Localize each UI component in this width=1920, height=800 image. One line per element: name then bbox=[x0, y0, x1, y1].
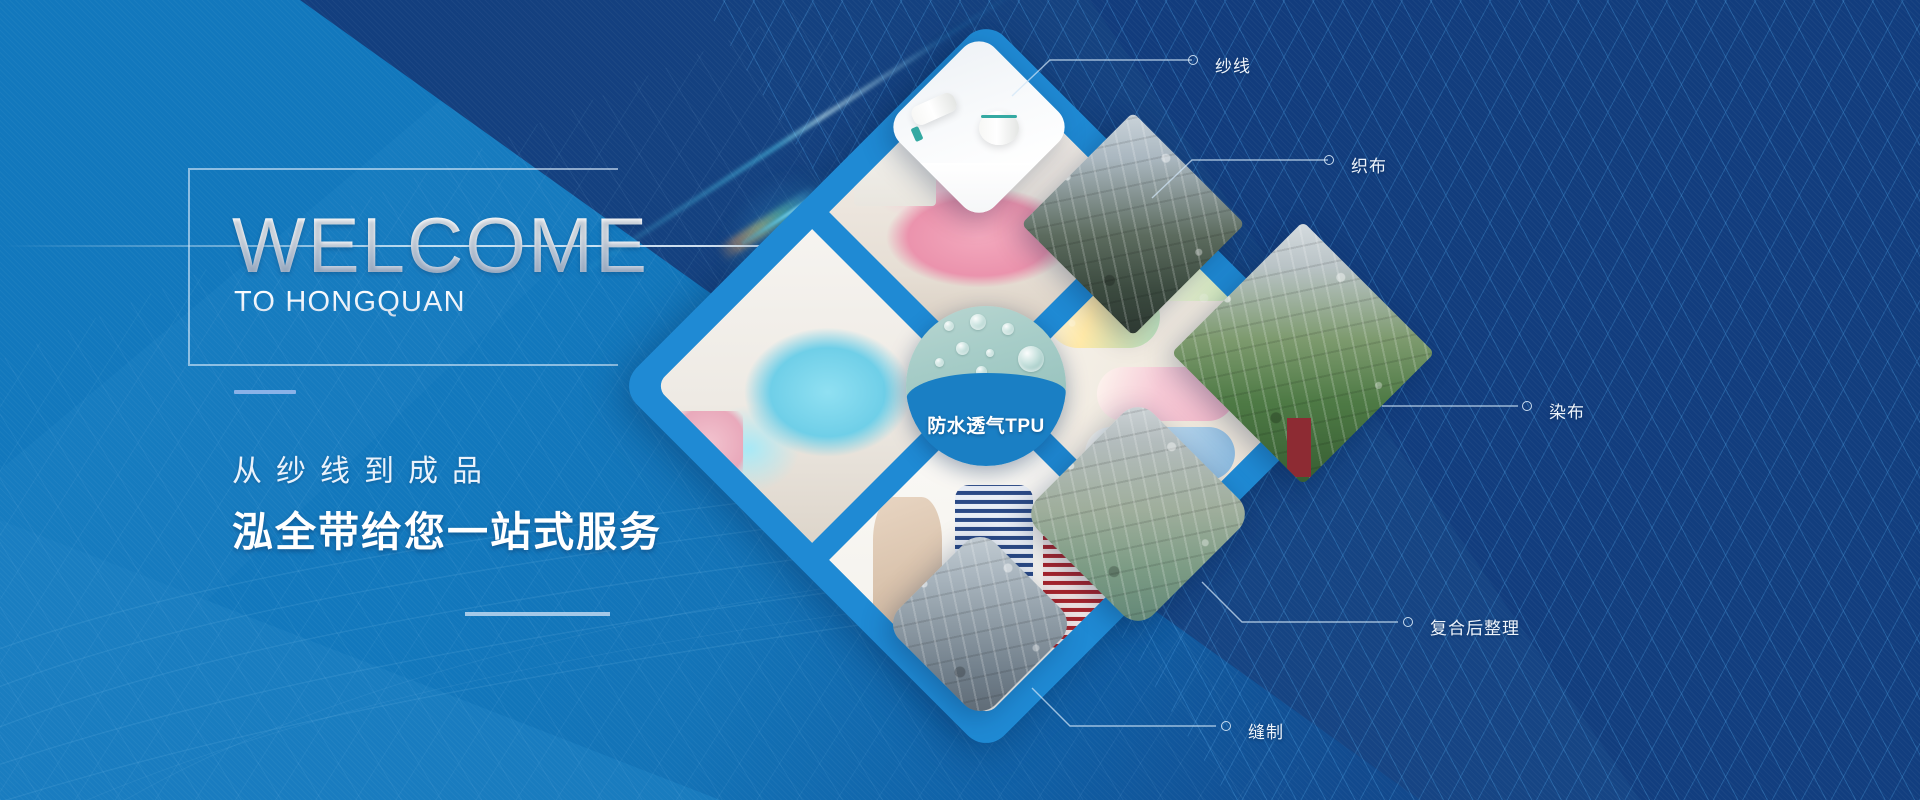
tpu-feature-badge: 防水透气TPU bbox=[906, 306, 1066, 466]
connector-dot-weaving bbox=[1324, 155, 1334, 165]
connector-dot-sewing bbox=[1221, 721, 1231, 731]
process-label-laminating: 复合后整理 bbox=[1430, 614, 1520, 639]
page-title: WELCOME bbox=[232, 204, 649, 286]
tagline-cn: 从纱线到成品 bbox=[232, 446, 496, 490]
process-label-sewing: 缝制 bbox=[1248, 718, 1284, 743]
hero-banner: WELCOME TO HONGQUAN 从纱线到成品 泓全带给您一站式服务 bbox=[0, 0, 1920, 800]
connector-dot-dyeing bbox=[1522, 401, 1532, 411]
connector-dot-yarn bbox=[1188, 55, 1198, 65]
badge-label: 防水透气TPU bbox=[906, 411, 1066, 438]
process-label-yarn: 纱线 bbox=[1215, 52, 1251, 77]
process-label-weaving: 织布 bbox=[1351, 152, 1387, 177]
page-subtitle: TO HONGQUAN bbox=[234, 286, 466, 319]
bottom-accent-rule bbox=[465, 612, 610, 616]
slogan-cn: 泓全带给您一站式服务 bbox=[232, 498, 662, 558]
connector-dot-laminating bbox=[1403, 617, 1413, 627]
title-divider bbox=[234, 390, 296, 394]
process-label-dyeing: 染布 bbox=[1549, 398, 1585, 423]
